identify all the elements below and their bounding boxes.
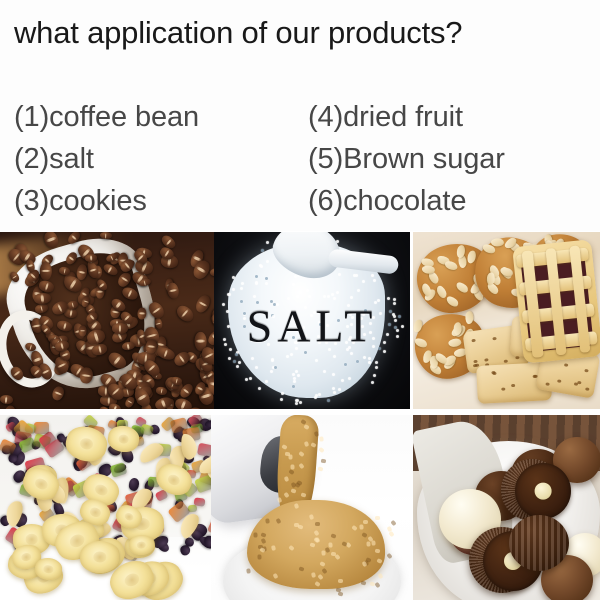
coffee-bean-image: [0, 232, 214, 409]
cookie-seed: [484, 358, 488, 362]
salt-grain: [398, 315, 401, 318]
salt-grain: [332, 373, 335, 376]
sugar-pile: [247, 500, 384, 589]
application-list-right-column: (4)dried fruit (5)Brown sugar (6)chocola…: [308, 96, 588, 222]
fruit-cube: [197, 442, 211, 456]
salt-grain: [236, 365, 239, 368]
spoon-handle: [327, 248, 399, 275]
coffee-bean: [166, 281, 180, 299]
salt-grain: [226, 310, 229, 313]
salt-grain: [292, 283, 295, 286]
sugar-grain: [246, 568, 251, 573]
cookie-seed: [501, 388, 505, 391]
list-item-dried-fruit: (4)dried fruit: [308, 96, 588, 138]
salt-grain: [394, 319, 397, 322]
sugar-grain: [388, 531, 394, 537]
cookie-seed: [545, 383, 549, 387]
dried-fruit-image: [0, 415, 211, 600]
salt-grain: [389, 310, 392, 313]
salt-grain: [295, 402, 298, 405]
photo-dried-fruit: [0, 415, 211, 600]
salt-grain: [393, 302, 396, 305]
photo-cookies: [413, 232, 600, 409]
salt-grain: [383, 350, 386, 353]
sugar-grain: [318, 447, 324, 453]
coffee-bean: [174, 397, 194, 409]
cookie-seed: [564, 364, 568, 368]
salt-grain: [371, 381, 374, 384]
sugar-grain: [363, 519, 368, 523]
photo-salt: SALT: [214, 232, 410, 409]
coffee-bean: [108, 402, 123, 409]
lattice-tart: [512, 239, 600, 363]
salt-grain: [280, 398, 283, 401]
salt-grain: [315, 394, 318, 397]
salt-grain: [308, 295, 311, 298]
sugar-grain: [304, 441, 309, 447]
application-list-left-column: (1)coffee bean (2)salt (3)cookies: [14, 96, 304, 222]
salt-grain: [314, 396, 317, 399]
photo-brown-sugar: [211, 415, 413, 600]
salt-grain: [378, 347, 381, 350]
salt-grain: [348, 377, 351, 380]
product-photo-grid: SALT: [0, 231, 600, 600]
coffee-bean: [0, 394, 13, 405]
list-item-chocolate: (6)chocolate: [308, 180, 588, 222]
cookies-image: [413, 232, 600, 409]
sugar-grain: [317, 466, 323, 471]
coffee-bean: [174, 303, 196, 325]
sugar-grain: [390, 519, 396, 525]
salt-grain: [393, 298, 396, 301]
salt-grain: [229, 348, 232, 351]
salt-grain: [396, 329, 399, 332]
coffee-bean: [4, 405, 17, 409]
salt-grain: [243, 312, 246, 315]
salt-grain: [233, 360, 236, 363]
salt-grain: [245, 378, 248, 381]
sugar-grain: [375, 548, 381, 553]
salt-grain: [292, 373, 295, 376]
sugar-grain: [375, 516, 380, 520]
sugar-grain: [359, 524, 363, 529]
salt-grain: [387, 297, 390, 300]
salt-grain: [373, 374, 376, 377]
salt-grain: [222, 303, 225, 306]
dried-berry: [128, 478, 139, 491]
list-item-salt: (2)salt: [14, 138, 304, 180]
salt-grain: [258, 387, 261, 390]
salt-grain: [344, 363, 347, 366]
salt-grain: [341, 379, 344, 382]
salt-grain: [323, 370, 326, 373]
salt-grain: [235, 353, 238, 356]
list-item-cookies: (3)cookies: [14, 180, 304, 222]
salt-grain: [379, 312, 382, 315]
salt-grain: [297, 374, 300, 377]
cookie-seed: [557, 379, 561, 383]
salt-grain: [228, 357, 231, 360]
salt-grain: [368, 357, 371, 360]
sugar-grain: [387, 552, 393, 558]
cookie-seed: [585, 387, 589, 391]
white-chocolate-dot: [535, 483, 552, 500]
salt-grain: [266, 241, 269, 244]
photo-coffee-bean: [0, 232, 214, 409]
salt-grain: [281, 392, 284, 395]
coffee-bean: [39, 262, 51, 280]
chocolate-image: [413, 415, 600, 600]
coffee-bean: [206, 328, 214, 348]
salt-grain: [265, 282, 268, 285]
coffee-bean: [50, 385, 65, 402]
salt-grain: [388, 323, 391, 326]
salt-grain: [238, 361, 241, 364]
salt-grain: [338, 388, 341, 391]
salt-grain: [299, 401, 302, 404]
salt-grain: [375, 361, 378, 364]
coffee-bean: [124, 395, 136, 409]
sugar-grain: [321, 459, 326, 464]
salt-grain: [249, 377, 252, 380]
ridged-chocolate-dome: [509, 515, 569, 571]
salt-grain: [315, 359, 318, 362]
salt-grain: [327, 295, 330, 298]
salt-grain: [240, 300, 243, 303]
salt-grain: [241, 282, 244, 285]
salt-image: SALT: [214, 232, 410, 409]
text-block: what application of our products? (1)cof…: [0, 0, 600, 231]
page-title: what application of our products?: [14, 14, 462, 52]
salt-grain: [227, 325, 230, 328]
salt-grain: [290, 353, 293, 356]
cookie-seed: [584, 369, 588, 373]
sugar-grain: [257, 554, 261, 559]
list-item-coffee-bean: (1)coffee bean: [14, 96, 304, 138]
almond-flake: [420, 282, 432, 297]
almond-flake: [465, 311, 474, 325]
cookie-seed: [504, 360, 508, 364]
chocolate-disc: [515, 463, 571, 519]
coffee-bean: [155, 346, 175, 362]
almond-flake: [454, 280, 469, 295]
salt-grain: [223, 338, 226, 341]
salt-grain: [375, 366, 378, 369]
almond-flake: [413, 319, 424, 334]
salt-grain: [363, 356, 366, 359]
product-application-poster: what application of our products? (1)cof…: [0, 0, 600, 600]
sugar-grain: [253, 532, 257, 537]
almond-flake: [443, 259, 458, 272]
salt-grain: [396, 335, 399, 338]
sugar-grain: [319, 436, 324, 441]
almond-flake: [413, 336, 428, 349]
salt-grain: [331, 293, 334, 296]
almond-flake: [445, 294, 460, 308]
photo-chocolate: [413, 415, 600, 600]
brown-sugar-image: [211, 415, 413, 600]
salt-grain: [224, 343, 227, 346]
sugar-grain: [285, 451, 290, 456]
salt-grain: [333, 391, 336, 394]
salt-grain: [227, 293, 230, 296]
almond-flake: [448, 338, 462, 347]
salt-word-overlay: SALT: [247, 299, 378, 352]
cookie-seed: [492, 337, 496, 341]
salt-grain: [271, 358, 274, 361]
list-item-brown-sugar: (5)Brown sugar: [308, 138, 588, 180]
coffee-bean: [79, 325, 87, 336]
salt-grain: [383, 341, 386, 344]
cookie-seed: [471, 339, 475, 343]
salt-grain: [327, 399, 330, 402]
sugar-grain: [328, 542, 332, 547]
cookie-seed: [511, 384, 515, 387]
salt-grain: [386, 333, 389, 336]
salt-grain: [401, 325, 404, 328]
coffee-bean: [194, 293, 213, 314]
cookie-seed: [493, 372, 497, 375]
